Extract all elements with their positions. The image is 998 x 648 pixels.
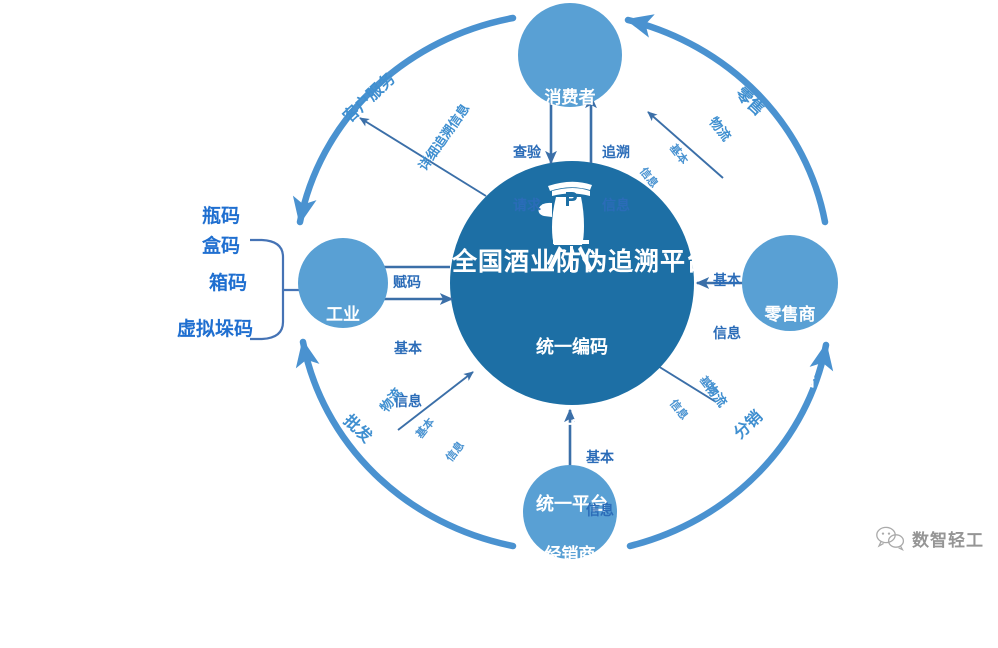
diagram-canvas: 全国酒业防伪追溯平台 统一编码 统一标识 统一平台 统一展现形式 消费者 工业 … — [0, 0, 998, 565]
node-label-retailer-line1: 零售商 — [740, 304, 840, 326]
code-label-virtual-stack: 虚拟垛码 — [160, 319, 270, 341]
arc-label-basic-info-bottom-left-line1: 基本 — [411, 412, 442, 447]
code-label-bottle: 瓶码 — [183, 206, 259, 228]
flow-label-consumer-trace-line1: 追溯 — [594, 145, 638, 163]
node-label-industry-line1: 工业 — [298, 304, 388, 326]
flow-label-assign-code-line1: 赋码 — [385, 275, 429, 293]
flow-label-industry-basic-info-line1: 基本 — [386, 341, 430, 359]
flow-label-retailer-basic-info-line1: 基本 — [705, 273, 749, 291]
wechat-icon — [875, 525, 905, 551]
watermark: 数智轻工 — [875, 525, 984, 551]
flow-label-dealer-basic-info-line1: 基本 — [578, 450, 622, 468]
flow-label-consumer-request-line1: 查验 — [505, 145, 549, 163]
flow-label-consumer-request-line2: 请求 — [505, 198, 549, 216]
flow-label-dealer-basic-info-line2: 信息 — [578, 503, 622, 521]
flow-label-retailer-basic-info: 基本 信息 — [705, 238, 749, 378]
arc-label-basic-info-top-right-line1: 基本 — [662, 138, 693, 173]
platform-subtitle-2: 统一标识 — [472, 413, 672, 439]
arc-label-basic-info-bottom-left-line2: 信息 — [440, 435, 471, 470]
flow-label-retailer-basic-info-line2: 信息 — [705, 326, 749, 344]
code-label-box: 盒码 — [183, 236, 259, 258]
arc-label-basic-info-bottom-right-line2: 信息 — [663, 393, 694, 428]
node-label-industry-line2: 企业 — [298, 370, 388, 392]
platform-subtitle-1: 统一编码 — [472, 335, 672, 361]
code-label-carton: 箱码 — [190, 273, 266, 295]
arc-label-basic-info-top-right-line2: 信息 — [633, 161, 664, 196]
platform-title: 全国酒业防伪追溯平台 — [452, 248, 692, 277]
flow-label-dealer-basic-info: 基本 信息 — [578, 415, 622, 555]
node-label-retailer-line2: 专卖店 — [740, 370, 840, 392]
node-label-consumer-line1: 消费者 — [520, 87, 620, 109]
watermark-text: 数智轻工 — [912, 526, 984, 551]
arc-label-basic-info-bottom-right-line1: 基本 — [692, 370, 723, 405]
flow-label-consumer-request: 查验 请求 — [505, 110, 549, 250]
